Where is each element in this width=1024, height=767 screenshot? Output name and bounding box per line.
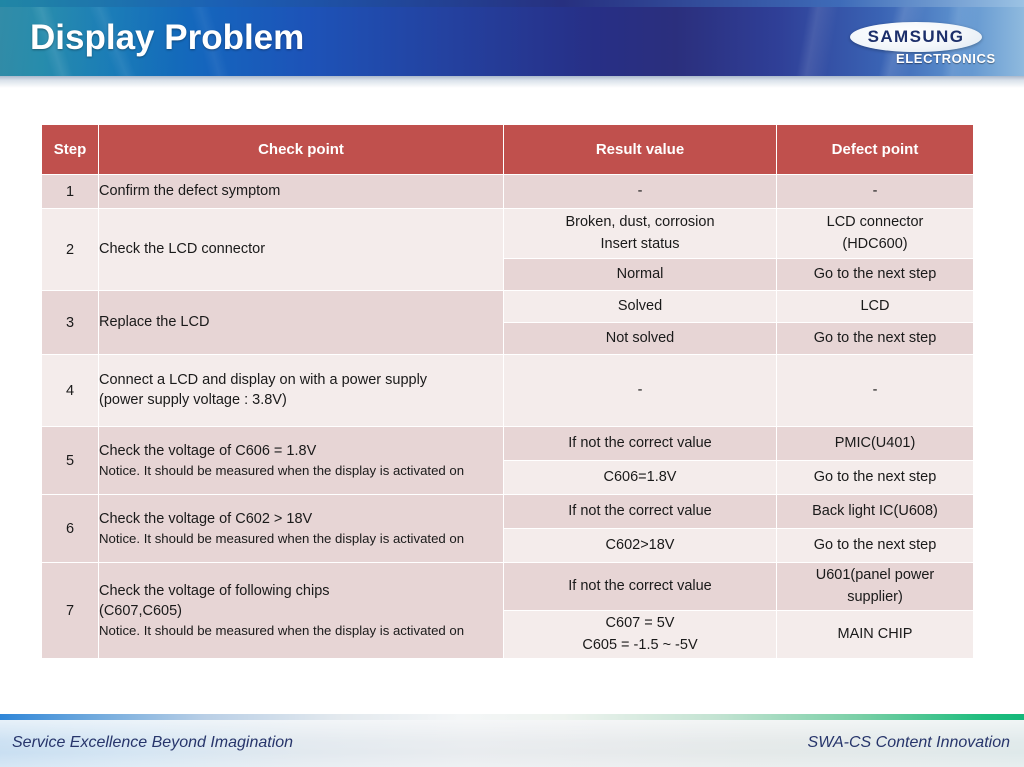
check-point-main: Check the voltage of C602 > 18V (99, 510, 503, 530)
logo-subtext: ELECTRONICS (896, 51, 996, 66)
check-point-notice: Notice. It should be measured when the d… (99, 530, 503, 547)
samsung-logo: SAMSUNG ELECTRONICS (850, 22, 1010, 68)
cell-defect-point: Go to the next step (777, 259, 974, 291)
table-row: 4 Connect a LCD and display on with a po… (42, 355, 974, 427)
check-point-main: Replace the LCD (99, 313, 503, 333)
page-title: Display Problem (30, 18, 304, 58)
cell-result-value: - (504, 175, 777, 209)
column-header-defect-point: Defect point (777, 125, 974, 175)
table-row: 7 Check the voltage of following chips (… (42, 563, 974, 611)
cell-defect-point: Back light IC(U608) (777, 495, 974, 529)
table-row: 5 Check the voltage of C606 = 1.8V Notic… (42, 427, 974, 461)
result-value-line1: C607 = 5V (504, 613, 776, 634)
column-header-step: Step (42, 125, 99, 175)
cell-defect-point: Go to the next step (777, 461, 974, 495)
cell-result-value: If not the correct value (504, 563, 777, 611)
cell-defect-point: PMIC(U401) (777, 427, 974, 461)
cell-result-value: Broken, dust, corrosion Insert status (504, 209, 777, 259)
cell-check-point: Confirm the defect symptom (99, 175, 504, 209)
cell-step: 6 (42, 495, 99, 563)
check-point-extra: (C607,C605) (99, 602, 503, 622)
cell-result-value: If not the correct value (504, 495, 777, 529)
cell-result-value: C606=1.8V (504, 461, 777, 495)
cell-check-point: Check the voltage of C602 > 18V Notice. … (99, 495, 504, 563)
table-body: 1 Confirm the defect symptom - - 2 Check… (42, 175, 974, 659)
check-point-main: Check the LCD connector (99, 240, 503, 260)
logo-wordmark: SAMSUNG (850, 22, 982, 52)
table-header: Step Check point Result value Defect poi… (42, 125, 974, 175)
cell-step: 1 (42, 175, 99, 209)
cell-result-value: Normal (504, 259, 777, 291)
cell-defect-point: LCD connector (HDC600) (777, 209, 974, 259)
cell-step: 3 (42, 291, 99, 355)
troubleshooting-table-container: Step Check point Result value Defect poi… (41, 124, 974, 659)
result-value-line2: C605 = -1.5 ~ -5V (504, 635, 776, 656)
result-value-line1: Broken, dust, corrosion (504, 212, 776, 233)
check-point-main: Check the voltage of following chips (99, 582, 503, 602)
cell-result-value: - (504, 355, 777, 427)
cell-result-value: C607 = 5V C605 = -1.5 ~ -5V (504, 611, 777, 659)
cell-check-point: Replace the LCD (99, 291, 504, 355)
cell-defect-point: - (777, 355, 974, 427)
slide-header: Display Problem SAMSUNG ELECTRONICS (0, 0, 1024, 76)
check-point-extra: (power supply voltage : 3.8V) (99, 391, 503, 411)
cell-defect-point: Go to the next step (777, 529, 974, 563)
cell-check-point: Check the LCD connector (99, 209, 504, 291)
cell-result-value: C602>18V (504, 529, 777, 563)
header-top-accent-line (0, 0, 1024, 7)
cell-result-value: Not solved (504, 323, 777, 355)
cell-step: 7 (42, 563, 99, 659)
cell-defect-point: MAIN CHIP (777, 611, 974, 659)
cell-step: 2 (42, 209, 99, 291)
table-header-row: Step Check point Result value Defect poi… (42, 125, 974, 175)
cell-defect-point: U601(panel power supplier) (777, 563, 974, 611)
result-value-line2: Insert status (504, 234, 776, 255)
cell-step: 5 (42, 427, 99, 495)
cell-check-point: Check the voltage of following chips (C6… (99, 563, 504, 659)
table-row: 6 Check the voltage of C602 > 18V Notice… (42, 495, 974, 529)
cell-result-value: Solved (504, 291, 777, 323)
check-point-notice: Notice. It should be measured when the d… (99, 462, 503, 479)
cell-defect-point: Go to the next step (777, 323, 974, 355)
cell-result-value: If not the correct value (504, 427, 777, 461)
table-row: 1 Confirm the defect symptom - - (42, 175, 974, 209)
slide-footer: Service Excellence Beyond Imagination SW… (0, 720, 1024, 767)
cell-defect-point: - (777, 175, 974, 209)
check-point-notice: Notice. It should be measured when the d… (99, 622, 503, 639)
check-point-main: Confirm the defect symptom (99, 182, 503, 202)
footer-tagline: Service Excellence Beyond Imagination (12, 734, 293, 752)
table-row: 2 Check the LCD connector Broken, dust, … (42, 209, 974, 259)
table-row: 3 Replace the LCD Solved LCD (42, 291, 974, 323)
defect-point-line1: U601(panel power (777, 565, 973, 586)
check-point-main: Check the voltage of C606 = 1.8V (99, 442, 503, 462)
cell-check-point: Check the voltage of C606 = 1.8V Notice.… (99, 427, 504, 495)
cell-step: 4 (42, 355, 99, 427)
troubleshooting-table: Step Check point Result value Defect poi… (41, 124, 974, 659)
footer-department: SWA-CS Content Innovation (808, 734, 1010, 752)
column-header-result-value: Result value (504, 125, 777, 175)
check-point-main: Connect a LCD and display on with a powe… (99, 372, 427, 388)
defect-point-line2: (HDC600) (777, 234, 973, 255)
header-bottom-fade (0, 76, 1024, 88)
defect-point-line1: LCD connector (777, 212, 973, 233)
cell-check-point: Connect a LCD and display on with a powe… (99, 355, 504, 427)
cell-defect-point: LCD (777, 291, 974, 323)
column-header-check-point: Check point (99, 125, 504, 175)
defect-point-line2: supplier) (777, 587, 973, 608)
